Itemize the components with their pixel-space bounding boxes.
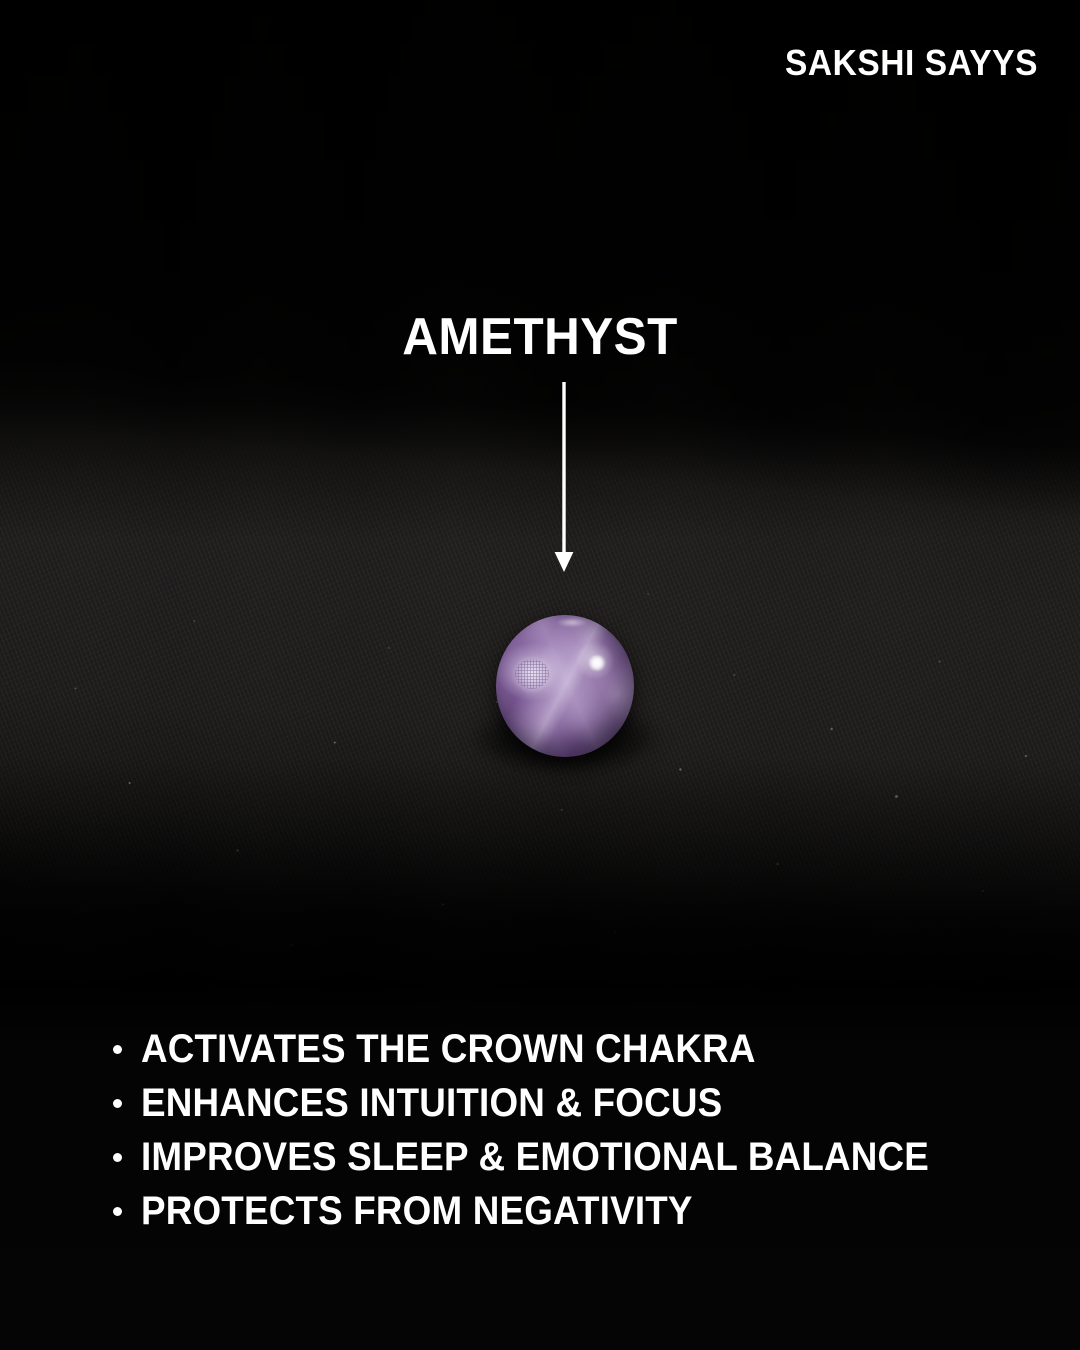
- brand-handle: SAKSHI SAYYS: [785, 45, 1038, 81]
- list-item: PROTECTS FROM NEGATIVITY: [104, 1184, 1004, 1238]
- sphere-body: [496, 615, 634, 757]
- list-item-label: ENHANCES INTUITION & FOCUS: [141, 1083, 722, 1123]
- poster-canvas: SAKSHI SAYYS AMETHYST ACTIVATES THE CROW…: [0, 0, 1080, 1350]
- list-item-label: ACTIVATES THE CROWN CHAKRA: [141, 1029, 756, 1069]
- list-item: ENHANCES INTUITION & FOCUS: [104, 1076, 1004, 1130]
- benefits-list: ACTIVATES THE CROWN CHAKRA ENHANCES INTU…: [104, 1022, 1004, 1238]
- list-item: IMPROVES SLEEP & EMOTIONAL BALANCE: [104, 1130, 1004, 1184]
- page-title: AMETHYST: [0, 311, 1080, 363]
- sphere-top-glint: [557, 618, 587, 627]
- list-item-label: PROTECTS FROM NEGATIVITY: [141, 1191, 693, 1231]
- bullet-dot-icon: [113, 1045, 122, 1054]
- list-item-label: IMPROVES SLEEP & EMOTIONAL BALANCE: [141, 1137, 929, 1177]
- sphere-specular-highlight: [587, 655, 607, 671]
- bullet-dot-icon: [113, 1153, 122, 1162]
- page-title-text: AMETHYST: [402, 311, 678, 363]
- bullet-dot-icon: [113, 1099, 122, 1108]
- bullet-dot-icon: [113, 1207, 122, 1216]
- down-arrow-icon: [553, 382, 575, 574]
- list-item: ACTIVATES THE CROWN CHAKRA: [104, 1022, 1004, 1076]
- amethyst-sphere: [496, 615, 634, 757]
